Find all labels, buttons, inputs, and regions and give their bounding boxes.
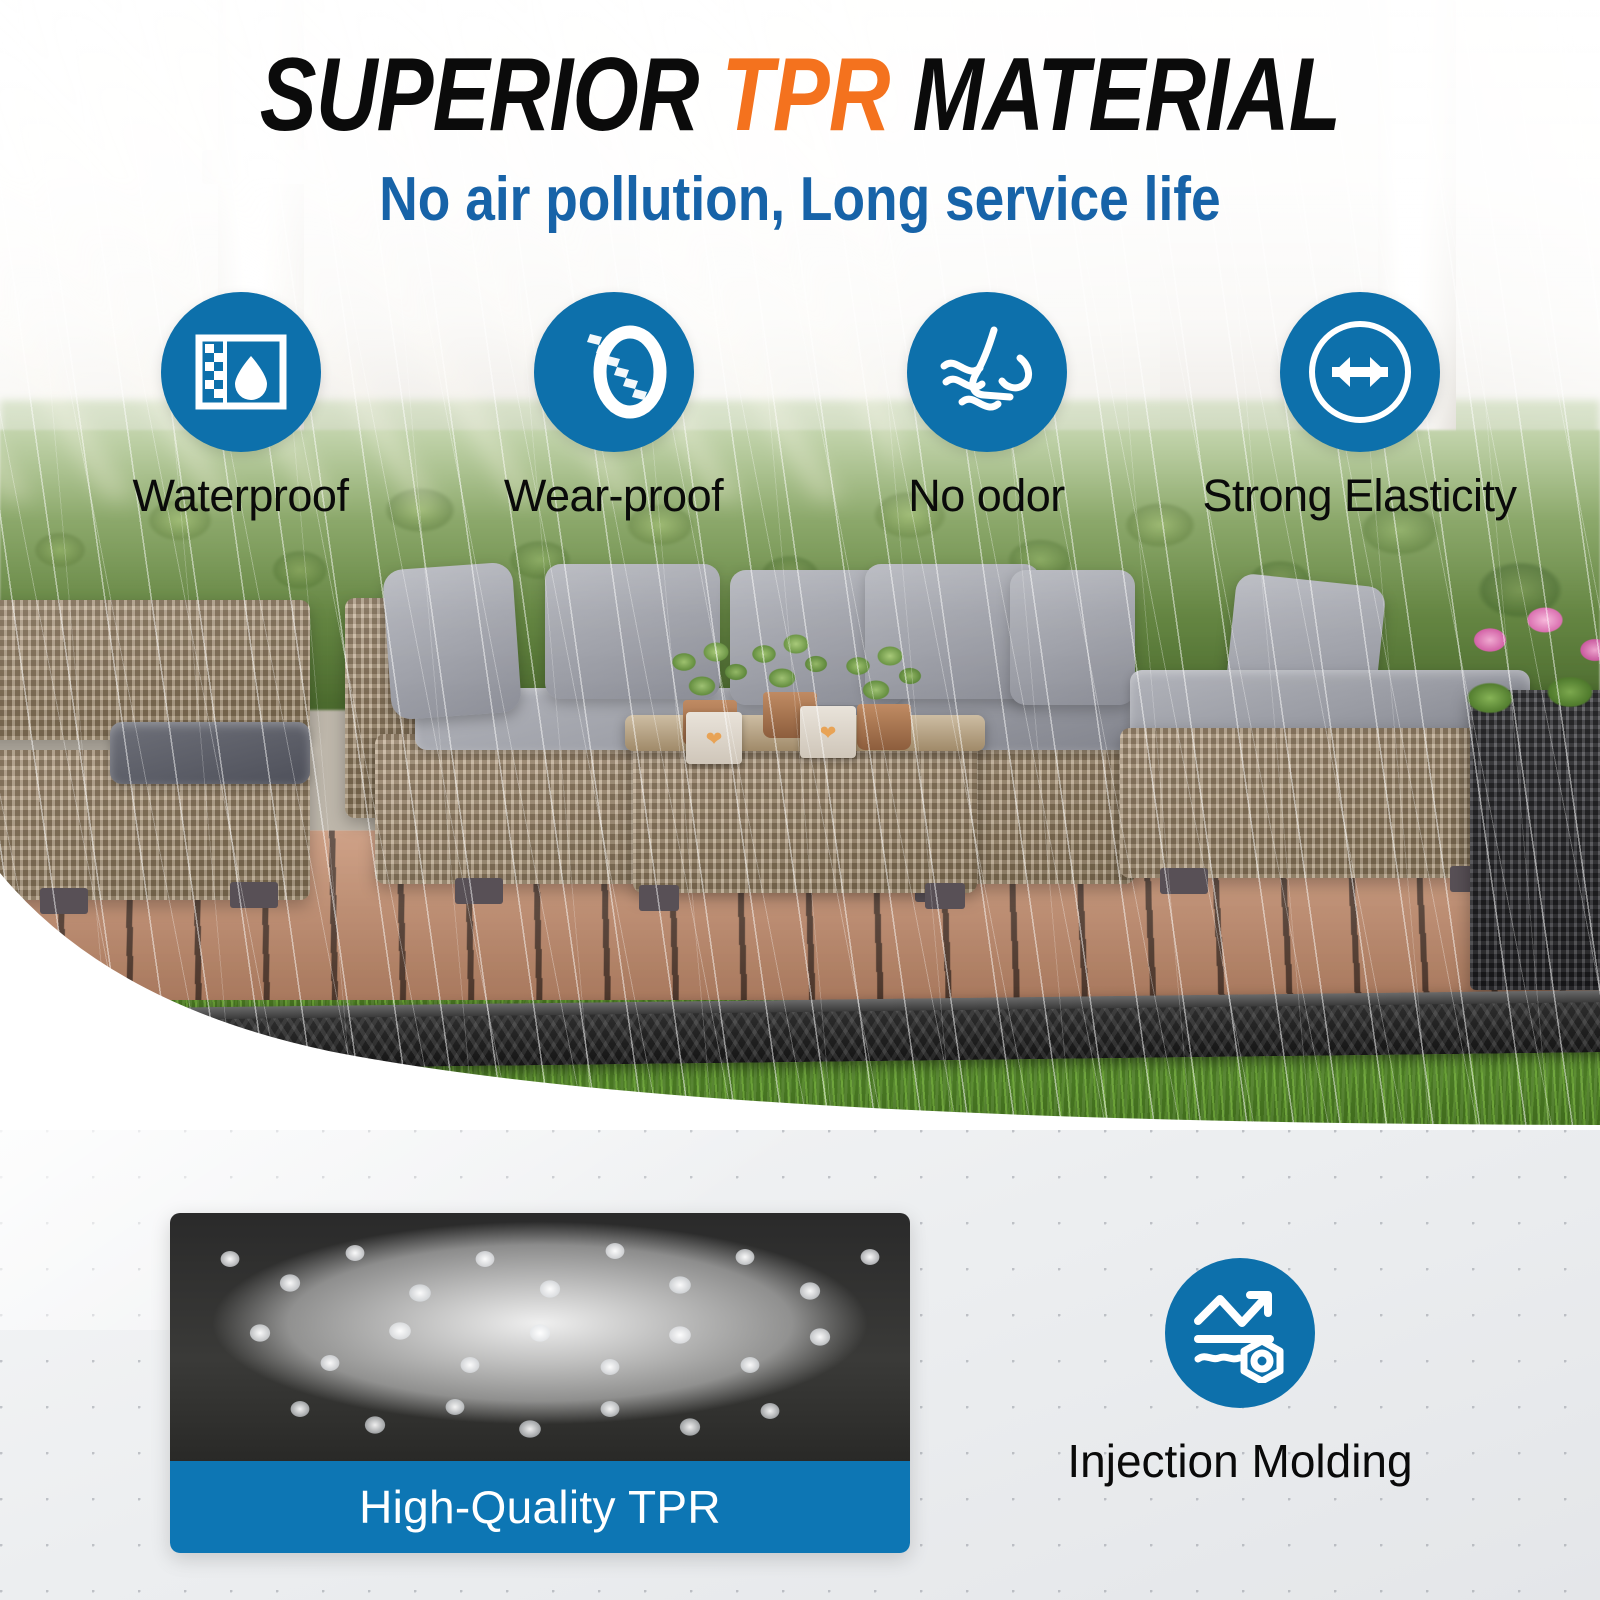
double-arrow-stretch-icon [1300, 312, 1420, 432]
feature-label: No odor [817, 470, 1157, 522]
heart-icon: ❤ [706, 727, 723, 752]
injection-molding-block: Injection Molding [1010, 1258, 1470, 1488]
title-accent-tpr: TPR [722, 37, 890, 153]
feature-row: Waterproof Wear-proof [0, 292, 1600, 522]
table-foot-left [639, 885, 679, 911]
tire-tread-wheel-icon [560, 320, 668, 424]
armchair-foot-left [40, 888, 88, 914]
armchair-seat-cushion [110, 722, 310, 784]
chaise-foot-left [1160, 868, 1208, 894]
feature-label: Waterproof [71, 470, 411, 522]
heart-icon: ❤ [820, 721, 837, 746]
page-title: SUPERIOR TPR MATERIAL [144, 42, 1456, 148]
rattan-armchair [0, 600, 310, 900]
armchair-foot-right [230, 882, 278, 908]
sofa-back-pillow-4 [1010, 570, 1135, 705]
dark-rattan-planter [1470, 690, 1600, 990]
strong-elasticity-icon-badge [1280, 292, 1440, 452]
nose-smell-lines-icon [932, 320, 1042, 424]
waterproof-icon-badge [161, 292, 321, 452]
wearproof-icon-badge [534, 292, 694, 452]
injection-molding-chart-nut-icon [1190, 1283, 1290, 1383]
title-part-1: SUPERIOR [260, 37, 722, 153]
potted-plant-3-pot [857, 704, 911, 750]
potted-plant-1-foliage [664, 636, 756, 708]
page-subtitle: No air pollution, Long service life [112, 164, 1488, 235]
title-part-2: MATERIAL [890, 37, 1341, 153]
armchair-backrest [0, 600, 310, 740]
feature-no-odor: No odor [817, 292, 1157, 522]
heart-lantern-left: ❤ [686, 712, 742, 764]
feature-waterproof: Waterproof [71, 292, 411, 522]
tpr-pellets-photo [170, 1213, 910, 1479]
feature-wearproof: Wear-proof [444, 292, 784, 522]
pellet-caption-bar: High-Quality TPR [170, 1461, 910, 1553]
table-foot-right [925, 883, 965, 909]
no-odor-icon-badge [907, 292, 1067, 452]
injection-molding-label: Injection Molding [1010, 1434, 1470, 1488]
sofa-bolster-pillow [382, 562, 522, 721]
heart-lantern-right: ❤ [800, 706, 856, 758]
product-feature-poster: ❤ ❤ SUPERIOR TPR MATERIAL No air pollu [0, 0, 1600, 1600]
header-block: SUPERIOR TPR MATERIAL No air pollution, … [0, 0, 1600, 235]
coffee-table-body [633, 743, 977, 893]
tpr-pellet-card: High-Quality TPR [170, 1213, 910, 1553]
feature-strong-elasticity: Strong Elasticity [1190, 292, 1530, 522]
injection-molding-icon-badge [1165, 1258, 1315, 1408]
waterproof-fabric-droplet-icon [189, 320, 293, 424]
feature-label: Wear-proof [444, 470, 784, 522]
feature-label: Strong Elasticity [1190, 470, 1530, 522]
pink-geranium-flowers [1450, 580, 1600, 720]
potted-plant-2-foliage [744, 628, 836, 700]
sofa-foot-left [455, 878, 503, 904]
potted-plant-3-foliage [838, 640, 930, 712]
